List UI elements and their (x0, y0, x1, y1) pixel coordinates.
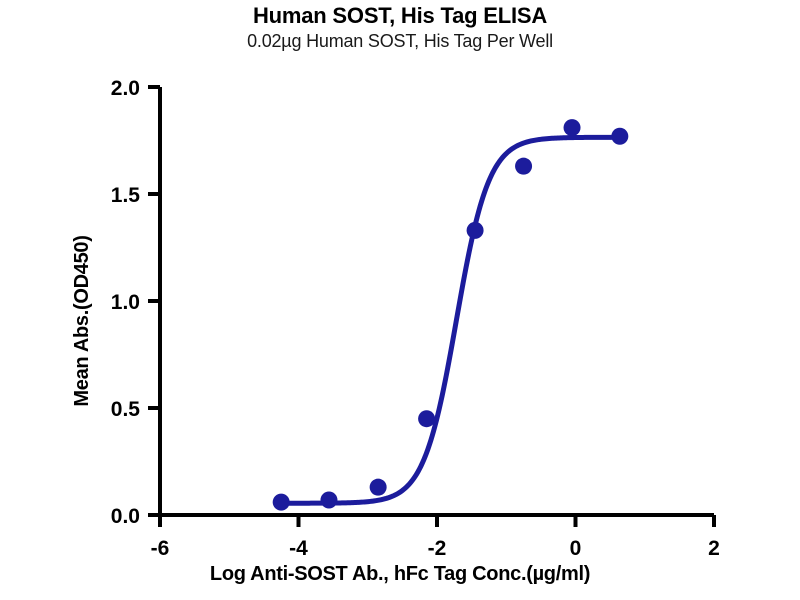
axes (160, 87, 714, 515)
x-tick-label: -2 (428, 537, 447, 560)
y-tick-label: 1.5 (111, 184, 141, 207)
y-tick-label: 0.5 (111, 398, 141, 421)
x-tick-label: -4 (289, 537, 308, 560)
y-tick-label: 1.0 (111, 291, 140, 314)
data-point-marker (564, 119, 581, 136)
y-tick-label: 2.0 (111, 77, 140, 100)
fit-curve (281, 137, 620, 503)
y-tick-label: 0.0 (111, 505, 140, 528)
elisa-chart-figure: Human SOST, His Tag ELISA 0.02µg Human S… (0, 0, 800, 600)
data-point-marker (611, 128, 628, 145)
x-tick-label: 0 (570, 537, 582, 560)
sigmoid-fit-line (281, 137, 620, 503)
data-points (273, 119, 629, 511)
x-tick-label: 2 (708, 537, 720, 560)
data-point-marker (273, 494, 290, 511)
y-axis-ticks: 0.00.51.01.52.0 (111, 77, 160, 528)
data-point-marker (370, 479, 387, 496)
data-point-marker (467, 222, 484, 239)
x-tick-label: -6 (151, 537, 170, 560)
plot-canvas: -6-4-202 0.00.51.01.52.0 (0, 0, 800, 600)
data-point-marker (320, 492, 337, 509)
x-axis-ticks: -6-4-202 (151, 515, 720, 560)
data-point-marker (418, 410, 435, 427)
data-point-marker (515, 158, 532, 175)
